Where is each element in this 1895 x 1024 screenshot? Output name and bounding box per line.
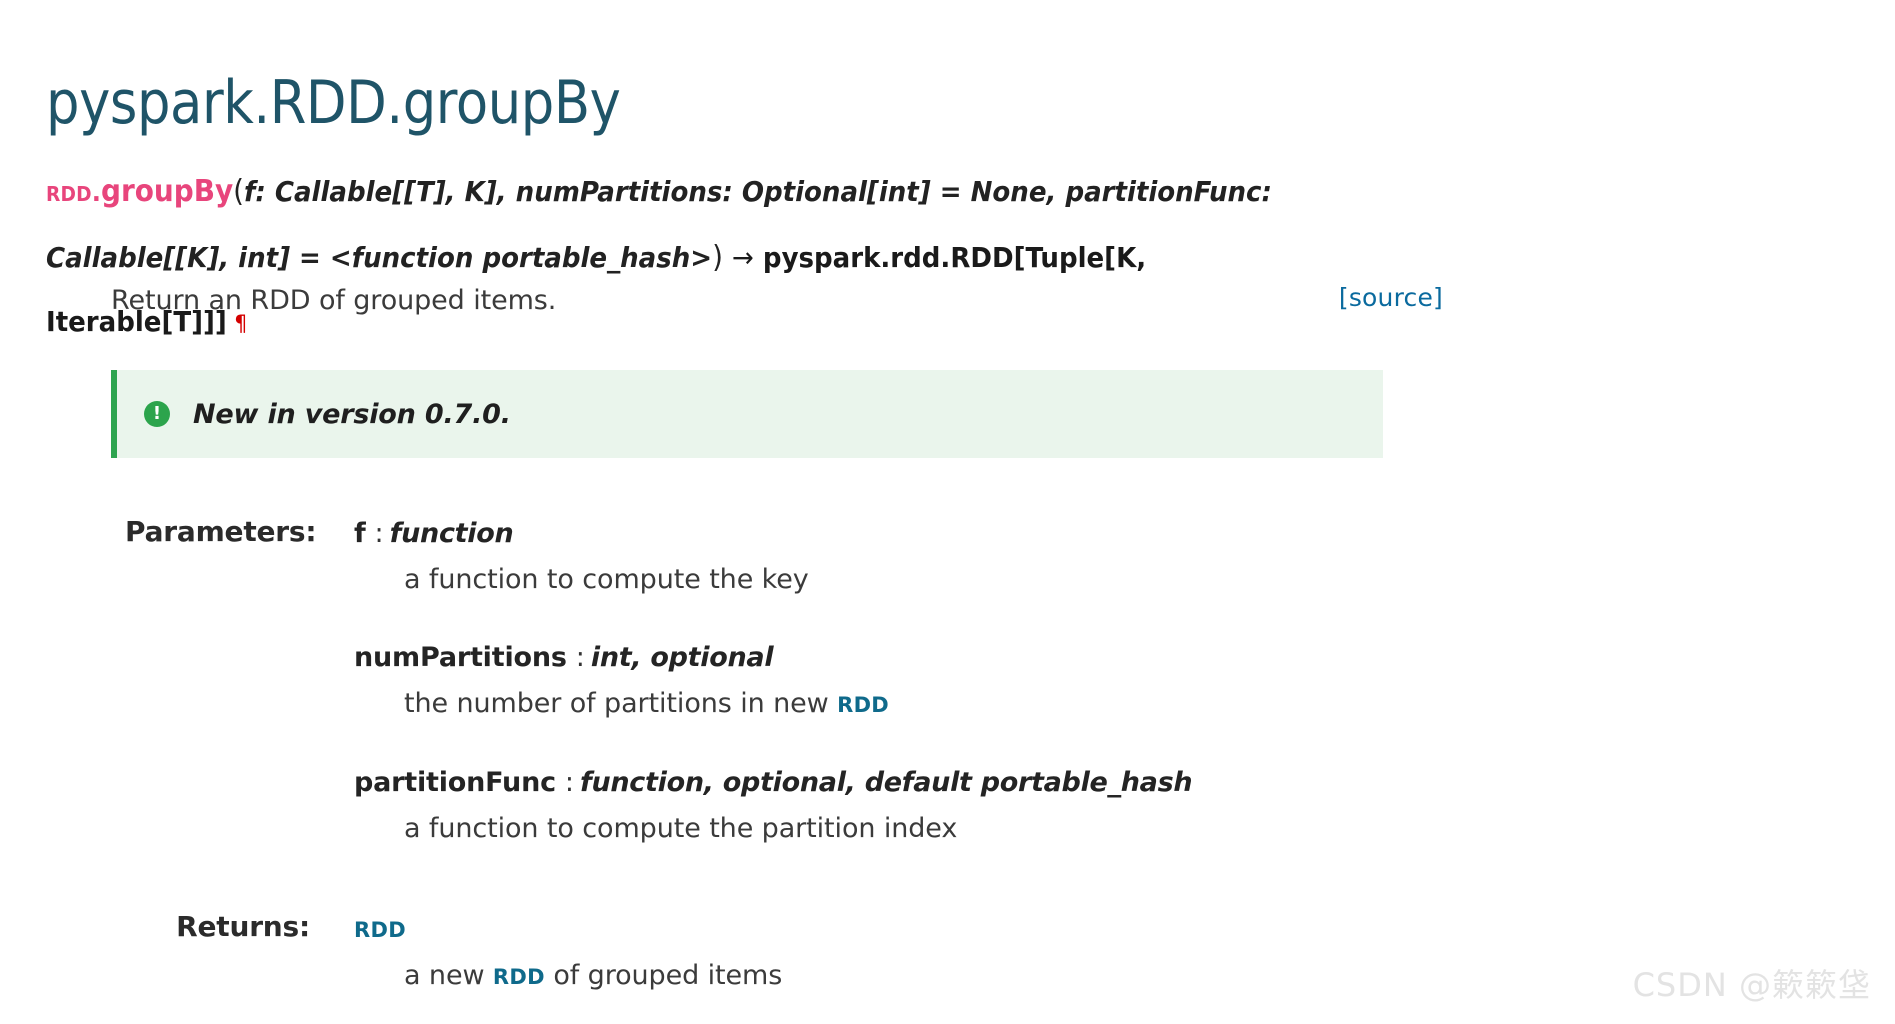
exclamation-icon-glyph: !	[144, 401, 170, 427]
parameter-type: function, optional, default portable_has…	[580, 767, 1192, 798]
parameter-type: int, optional	[591, 642, 773, 673]
parameter-name: numPartitions	[354, 642, 567, 673]
signature-method-name: groupBy	[101, 174, 233, 209]
parameter-name: f	[354, 518, 366, 549]
parameter-colon: :	[565, 767, 574, 798]
source-link[interactable]: [source]	[1339, 283, 1443, 312]
version-added-text: New in version 0.7.0.	[193, 399, 511, 430]
page-title: pyspark.RDD.groupBy	[46, 68, 620, 138]
returns-label: Returns:	[0, 910, 310, 943]
returns-field-row: Returns: RDD a new RDD of grouped items	[0, 910, 1895, 994]
signature-open-paren: (	[233, 174, 244, 209]
parameter-name: partitionFunc	[354, 767, 556, 798]
function-signature: RDD.groupBy(f: Callable[[T], K], numPart…	[46, 160, 1311, 357]
signature-arrow-icon: →	[732, 241, 754, 274]
parameters-label: Parameters:	[0, 515, 310, 548]
signature-close-paren: )	[712, 240, 723, 275]
parameter-colon: :	[576, 642, 585, 673]
rdd-xref-link[interactable]: RDD	[493, 965, 545, 989]
parameter-item-partitionfunc: partitionFunc:function, optional, defaul…	[354, 764, 1895, 802]
returns-type: RDD	[354, 910, 1895, 949]
csdn-watermark: CSDN @簌簌垡	[1633, 960, 1871, 1006]
parameters-field-row: Parameters: f:function a function to com…	[0, 515, 1895, 846]
parameter-description: a function to compute the partition inde…	[404, 812, 1895, 846]
method-description: Return an RDD of grouped items.	[111, 285, 556, 316]
signature-class-prefix: RDD	[46, 182, 92, 206]
parameter-description: a function to compute the key	[404, 563, 1895, 597]
rdd-xref-link[interactable]: RDD	[354, 918, 406, 942]
parameter-description-text: the number of partitions in new	[404, 688, 837, 719]
rdd-xref-link[interactable]: RDD	[837, 693, 889, 717]
field-list: Parameters: f:function a function to com…	[0, 515, 1895, 994]
parameter-colon: :	[375, 518, 384, 549]
parameter-description: the number of partitions in new RDD	[404, 687, 1895, 722]
signature-separator: .	[92, 178, 101, 208]
exclamation-icon: !	[143, 400, 171, 428]
returns-description-text: a new	[404, 960, 493, 991]
parameter-type: function	[390, 518, 514, 549]
returns-description-text-post: of grouped items	[545, 960, 782, 991]
version-added-admonition: ! New in version 0.7.0.	[111, 370, 1383, 458]
api-doc-page: pyspark.RDD.groupBy RDD.groupBy(f: Calla…	[0, 0, 1895, 1024]
parameters-body: f:function a function to compute the key…	[310, 515, 1895, 846]
parameter-definition-list: f:function a function to compute the key…	[354, 515, 1895, 846]
parameter-item-numpartitions: numPartitions:int, optional	[354, 639, 1895, 677]
parameter-item-f: f:function	[354, 515, 1895, 553]
